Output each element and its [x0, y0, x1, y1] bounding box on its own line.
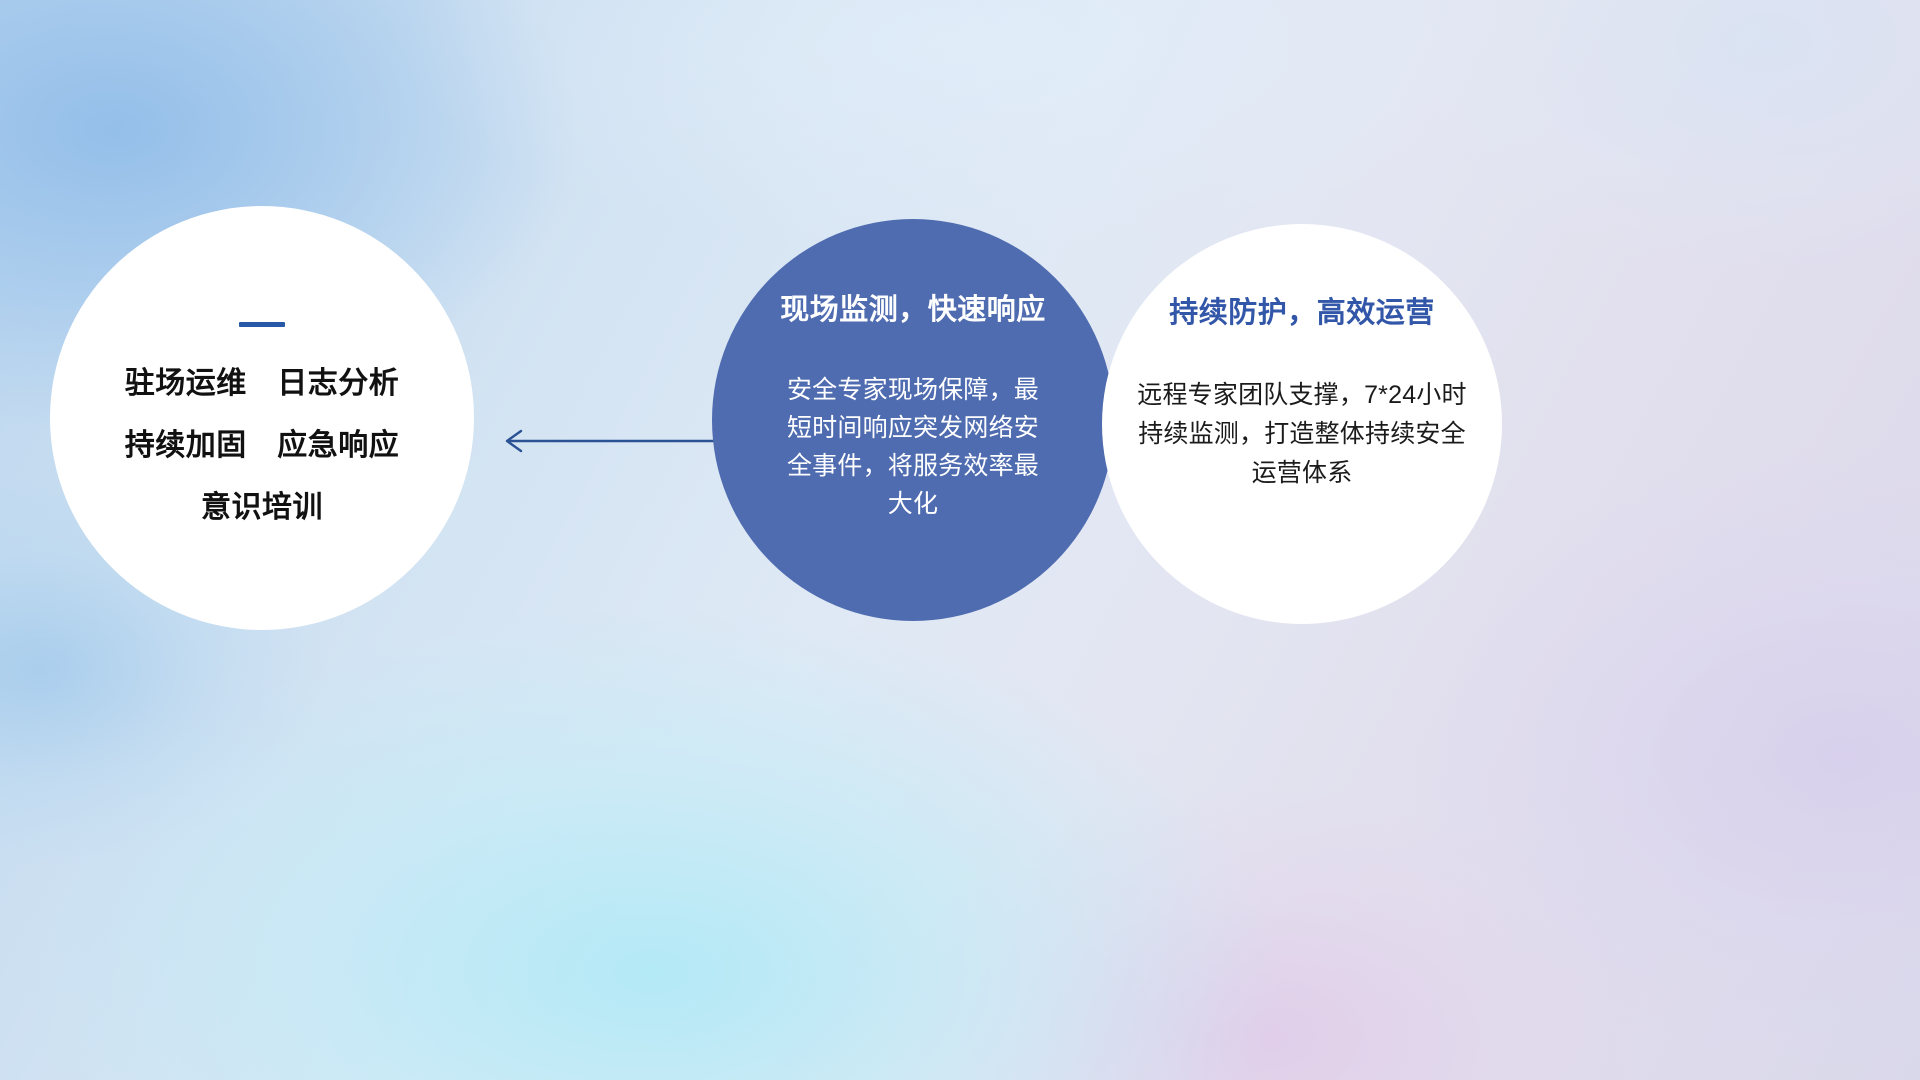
capability-line: 持续加固 应急响应 [125, 431, 400, 461]
slide-canvas: 驻场运维 日志分析 持续加固 应急响应 意识培训 现场监测，快速响应 安全专家现… [0, 0, 1920, 1080]
capability-list: 驻场运维 日志分析 持续加固 应急响应 意识培训 [125, 369, 400, 523]
flow-arrow-left-icon [488, 420, 718, 462]
service-description: 安全专家现场保障，最短时间响应突发网络安全事件，将服务效率最大化 [779, 371, 1047, 523]
service-title: 持续防护，高效运营 [1169, 299, 1435, 328]
capability-circle-left[interactable]: 驻场运维 日志分析 持续加固 应急响应 意识培训 [50, 206, 474, 630]
service-circle-remote[interactable]: 持续防护，高效运营 远程专家团队支撑，7*24小时持续监测，打造整体持续安全运营… [1102, 224, 1502, 624]
capability-line: 驻场运维 日志分析 [125, 369, 400, 399]
service-title: 现场监测，快速响应 [780, 296, 1046, 325]
title-divider-rule [239, 322, 285, 327]
service-circle-onsite[interactable]: 现场监测，快速响应 安全专家现场保障，最短时间响应突发网络安全事件，将服务效率最… [712, 219, 1114, 621]
service-description: 远程专家团队支撑，7*24小时持续监测，打造整体持续安全运营体系 [1134, 376, 1470, 492]
capability-line: 意识培训 [125, 493, 400, 523]
